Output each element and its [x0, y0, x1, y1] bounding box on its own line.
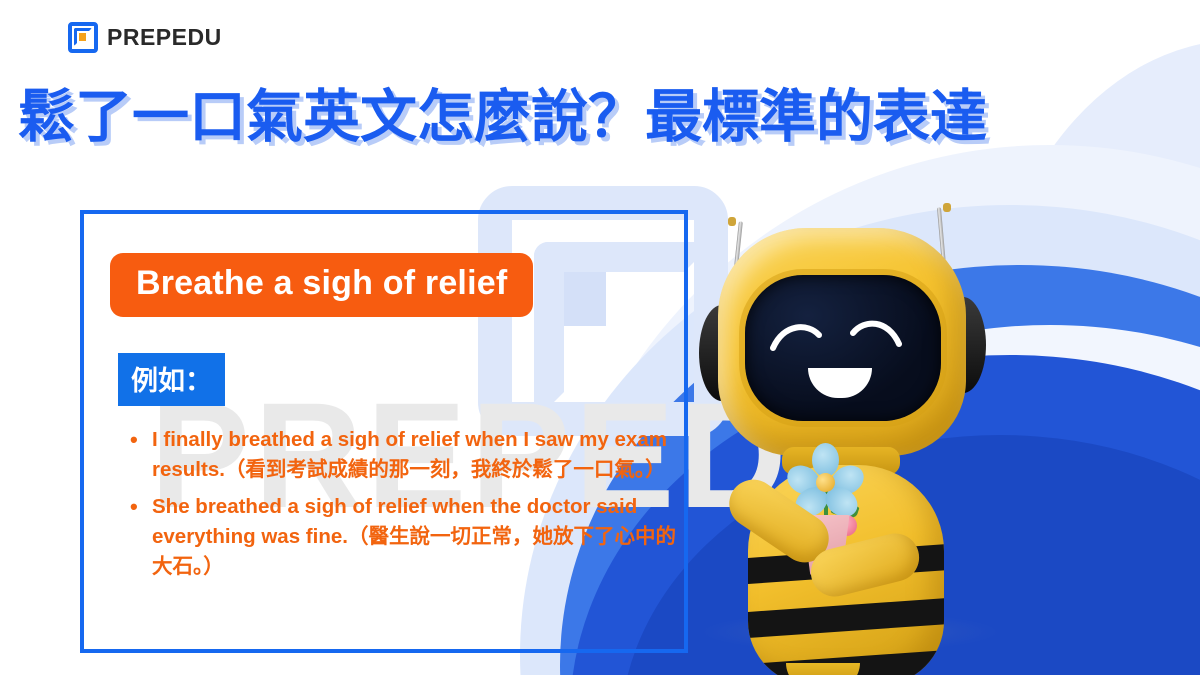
list-item: She breathed a sigh of relief when the d…	[152, 492, 687, 583]
example-label: 例如：	[118, 353, 225, 406]
flower-core-icon	[816, 473, 835, 492]
brand-name: PREPEDU	[107, 24, 222, 51]
mascot-legs	[786, 663, 860, 675]
eye-right-icon	[850, 317, 902, 347]
prepedu-logo-icon	[68, 22, 98, 53]
eye-left-icon	[770, 321, 822, 351]
slide-canvas: PREPEDU PREPEDU 鬆了一口氣英文怎麼說？最標準的表達 Breath…	[0, 0, 1200, 675]
antenna-tip-right-icon	[943, 203, 951, 212]
phrase-badge: Breathe a sigh of relief	[110, 253, 533, 317]
brand-logo[interactable]: PREPEDU	[68, 22, 222, 53]
antenna-tip-left-icon	[728, 217, 736, 226]
example-list: I finally breathed a sigh of relief when…	[126, 425, 687, 589]
page-title: 鬆了一口氣英文怎麼說？最標準的表達	[18, 86, 1188, 149]
list-item: I finally breathed a sigh of relief when…	[152, 425, 687, 486]
yellow-bee-robot-mascot	[690, 185, 1010, 665]
